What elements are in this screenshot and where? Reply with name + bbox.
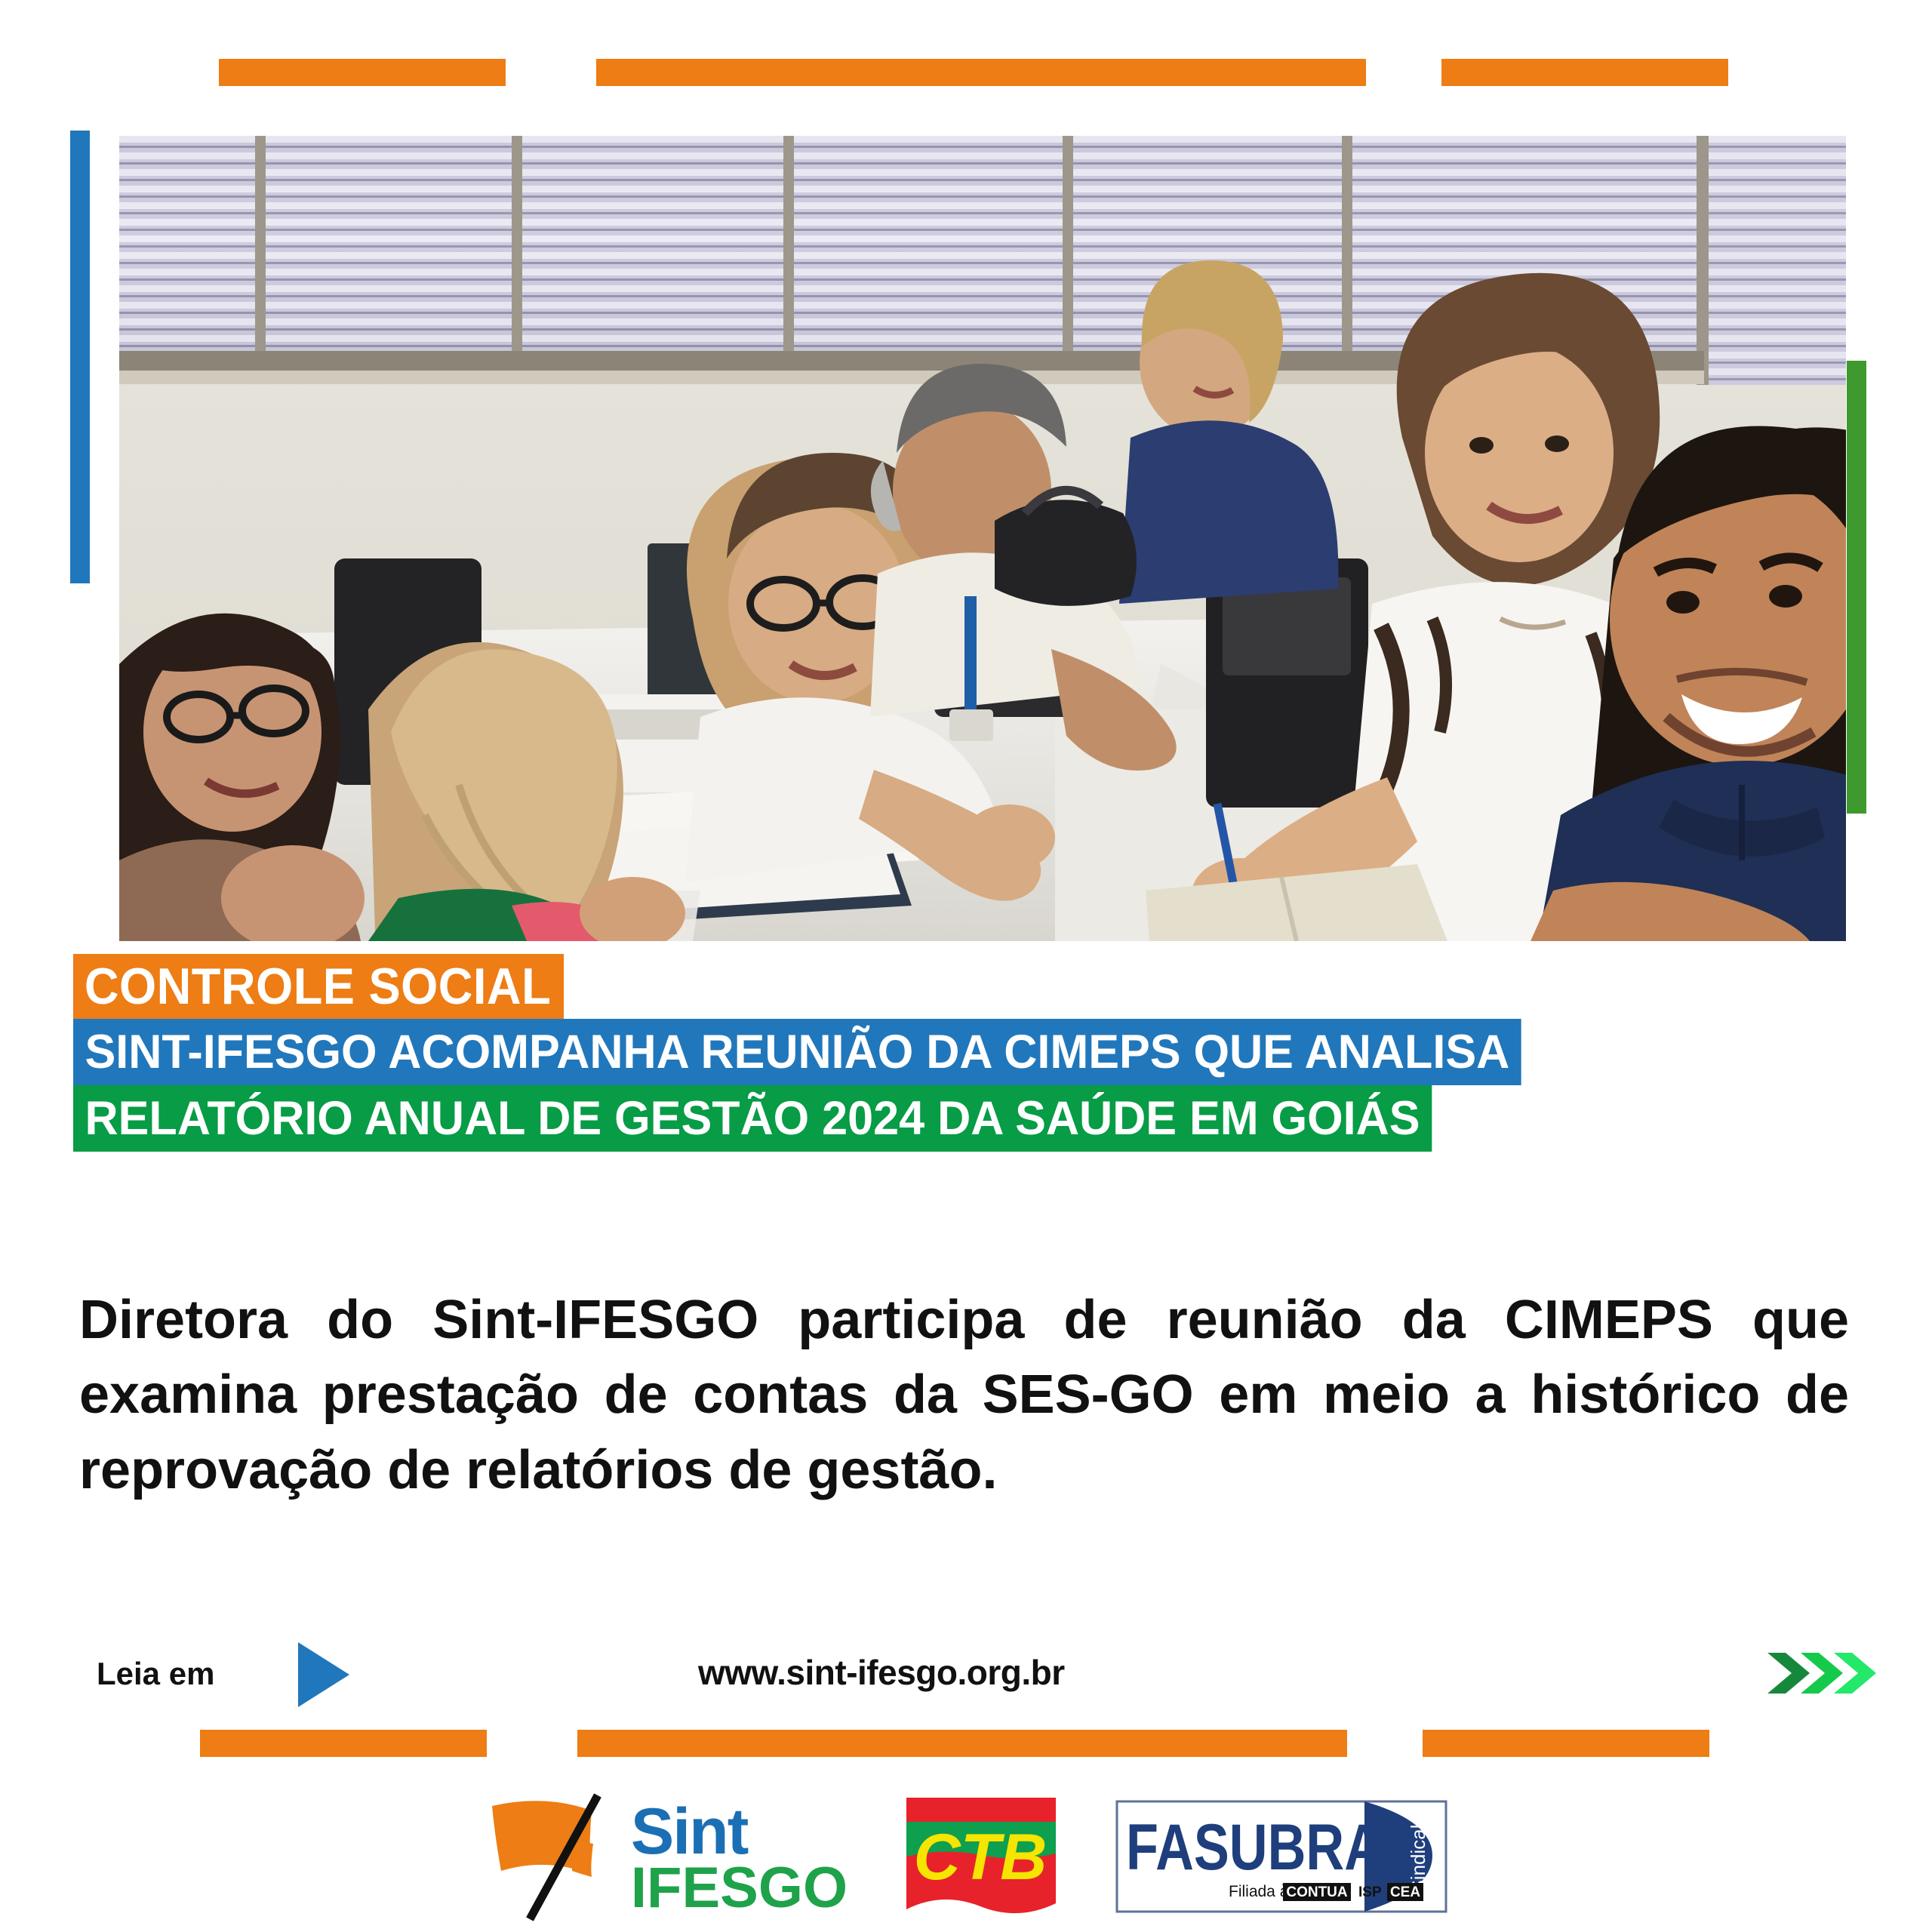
triple-chevron-right-icon: [1766, 1650, 1879, 1697]
bottom-accent-bar-center: [577, 1730, 1347, 1757]
logo-sint-ifesgo: Sint IFESGO: [485, 1791, 848, 1927]
logo-ctb: CTB: [900, 1795, 1063, 1923]
bottom-accent-bar-right: [1423, 1730, 1709, 1757]
left-blue-accent-bar: [70, 131, 90, 583]
svg-text:ISP: ISP: [1358, 1884, 1382, 1900]
sint-wordmark: Sint IFESGO: [631, 1802, 848, 1915]
logo-row: Sint IFESGO CTB FASUBRA Sindical Filiada…: [0, 1789, 1932, 1928]
body-copy-text: Diretora do Sint-IFESGO participa de reu…: [79, 1283, 1849, 1508]
sint-word-primary: Sint: [631, 1802, 848, 1862]
top-accent-bar-center: [596, 59, 1366, 86]
meeting-photo: [119, 136, 1846, 941]
svg-text:CONTUA: CONTUA: [1286, 1884, 1348, 1900]
right-green-accent-bar: [1847, 361, 1866, 814]
headline-line-1: SINT-IFESGO ACOMPANHA REUNIÃO DA CIMEPS …: [73, 1019, 1521, 1085]
fasubra-logo-icon: FASUBRA Sindical Filiada à CONTUA ISP CE…: [1115, 1800, 1447, 1913]
headline-line-2: RELATÓRIO ANUAL DE GESTÃO 2024 DA SAÚDE …: [73, 1085, 1432, 1152]
website-link[interactable]: www.sint-ifesgo.org.br: [698, 1649, 1065, 1696]
kicker-badge: CONTROLE SOCIAL: [73, 954, 564, 1019]
svg-text:CTB: CTB: [914, 1821, 1048, 1894]
poster-canvas: CONTROLE SOCIAL SINT-IFESGO ACOMPANHA RE…: [0, 0, 1932, 1932]
logo-fasubra: FASUBRA Sindical Filiada à CONTUA ISP CE…: [1115, 1800, 1447, 1917]
bottom-accent-bar-left: [200, 1730, 487, 1757]
read-label: Leia em: [97, 1651, 214, 1697]
top-accent-bar-left: [219, 59, 506, 86]
orange-flag-icon: [485, 1792, 628, 1924]
svg-text:Sindical: Sindical: [1407, 1824, 1429, 1893]
body-copy: Diretora do Sint-IFESGO participa de reu…: [79, 1283, 1849, 1508]
svg-text:Filiada à: Filiada à: [1229, 1883, 1289, 1900]
svg-text:CEA: CEA: [1390, 1884, 1420, 1900]
play-triangle-icon: [298, 1642, 349, 1707]
ctb-flag-icon: CTB: [900, 1795, 1063, 1919]
meeting-photo-illustration: [119, 136, 1846, 941]
top-accent-bar-right: [1441, 59, 1728, 86]
svg-text:FASUBRA: FASUBRA: [1126, 1811, 1383, 1884]
sint-word-secondary: IFESGO: [631, 1862, 848, 1915]
